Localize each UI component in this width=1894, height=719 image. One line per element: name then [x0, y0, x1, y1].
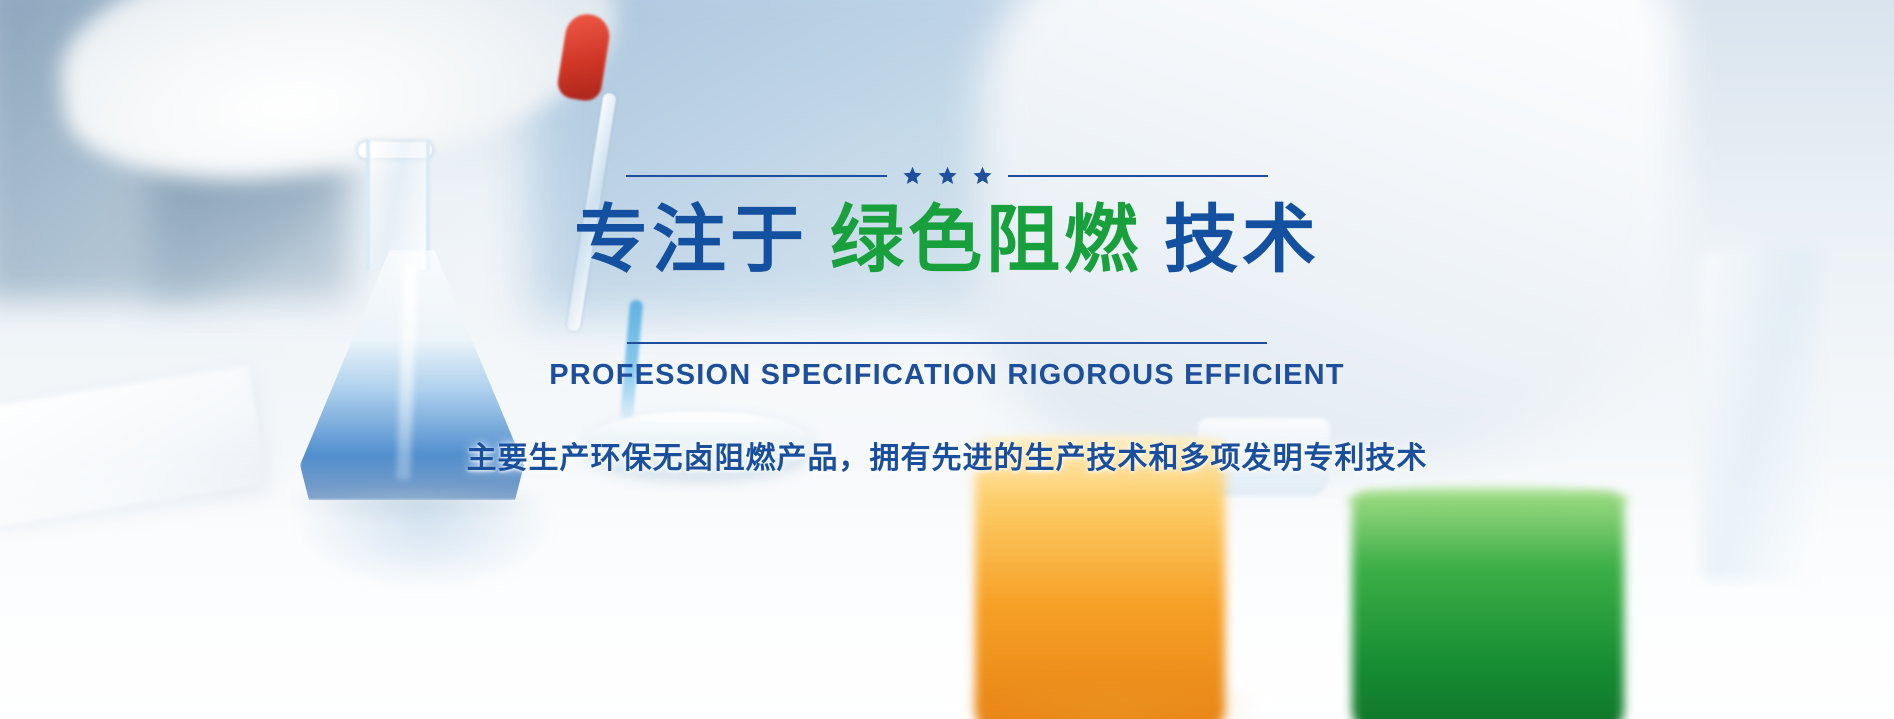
- decorative-divider-top: [626, 166, 1268, 185]
- headline-part-2: 绿色阻燃: [830, 197, 1142, 283]
- headline-part-1: 专注于: [574, 197, 808, 283]
- star-icon: [903, 166, 922, 185]
- banner-content: 专注于绿色阻燃技术 PROFESSION SPECIFICATION RIGOR…: [0, 0, 1894, 719]
- divider-line-left: [626, 175, 887, 177]
- banner-subtitle-english: PROFESSION SPECIFICATION RIGOROUS EFFICI…: [549, 359, 1344, 392]
- decorative-divider-bottom: [627, 342, 1267, 344]
- star-group: [901, 166, 994, 185]
- divider-line-right: [1008, 175, 1269, 177]
- banner-tagline-chinese: 主要生产环保无卤阻燃产品，拥有先进的生产技术和多项发明专利技术: [467, 433, 1428, 477]
- hero-banner: 专注于绿色阻燃技术 PROFESSION SPECIFICATION RIGOR…: [0, 0, 1894, 719]
- headline-part-3: 技术: [1164, 197, 1320, 283]
- banner-headline: 专注于绿色阻燃技术: [574, 201, 1320, 281]
- star-icon: [973, 166, 992, 185]
- star-icon: [938, 166, 957, 185]
